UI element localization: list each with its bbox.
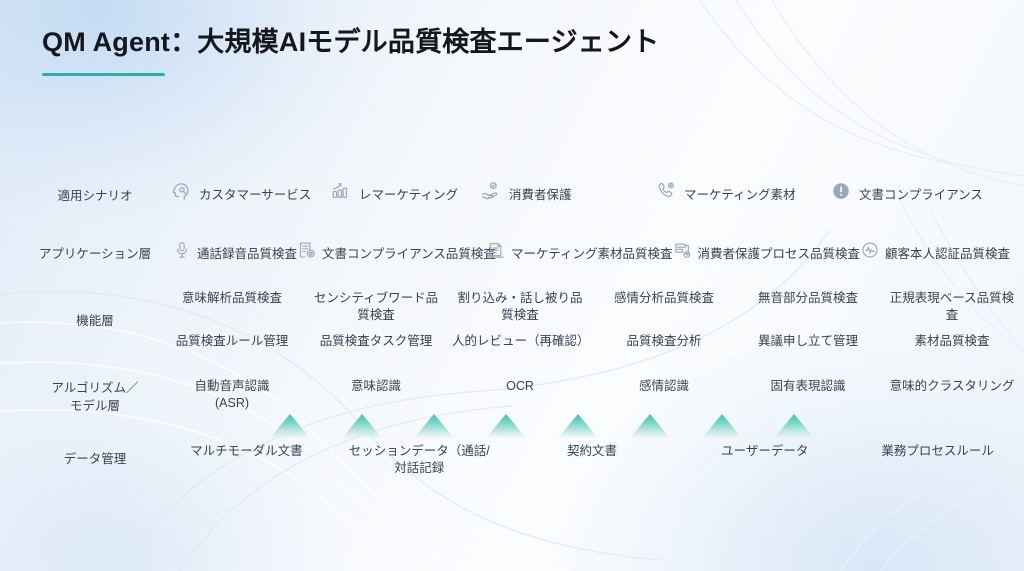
application-item-document-compliance[interactable]: 文書コンプライアンス品質検査 xyxy=(297,240,486,265)
data-cell[interactable]: 業務プロセスルール xyxy=(851,443,1024,477)
scenario-items: カスタマーサービス レマーケティング xyxy=(170,180,1010,207)
algorithm-cell[interactable]: 感情認識 xyxy=(592,378,736,412)
scenario-item-document-compliance[interactable]: 文書コンプライアンス xyxy=(830,180,1010,207)
algorithm-cell[interactable]: 固有表現認識 xyxy=(736,378,880,412)
process-clock-icon xyxy=(673,240,693,265)
background-decoration xyxy=(0,0,1024,571)
application-item-call-recording[interactable]: 通話録音品質検査 xyxy=(172,240,297,265)
algorithm-cell[interactable]: OCR xyxy=(448,378,592,412)
function-cell[interactable]: 人的レビュー（再確認） xyxy=(448,333,592,350)
scenario-item-label: カスタマーサービス xyxy=(199,184,311,203)
swirl-lines xyxy=(0,0,1024,571)
function-cell[interactable]: 品質検査タスク管理 xyxy=(304,333,448,350)
data-cell[interactable]: ユーザーデータ xyxy=(678,443,851,477)
hand-shield-icon xyxy=(480,180,502,207)
algorithm-cell[interactable]: 意味的クラスタリング xyxy=(880,378,1024,412)
title-underline xyxy=(42,73,165,76)
scenario-item-consumer-protection[interactable]: 消費者保護 xyxy=(480,180,655,207)
function-cell[interactable]: 品質検査ルール管理 xyxy=(160,333,304,350)
scenario-row: 適用シナリオ カスタマーサービス xyxy=(0,180,1024,214)
waveform-circle-icon xyxy=(860,240,880,265)
function-cell[interactable]: 割り込み・話し被り品質検査 xyxy=(448,290,592,324)
data-row-label: データ管理 xyxy=(30,450,160,468)
application-item-label: マーケティング素材品質検査 xyxy=(511,243,673,262)
phone-megaphone-icon xyxy=(655,180,677,207)
function-cell[interactable]: 意味解析品質検査 xyxy=(160,290,304,324)
application-item-label: 消費者保護プロセス品質検査 xyxy=(698,243,861,262)
scenario-item-label: 文書コンプライアンス xyxy=(859,184,983,203)
function-cell[interactable]: 異議申し立て管理 xyxy=(736,333,880,350)
exclamation-circle-icon xyxy=(830,180,852,207)
scenario-item-label: レマーケティング xyxy=(359,184,458,203)
algorithm-row-label-line1: アルゴリズム／ xyxy=(51,381,138,395)
application-items: 通話録音品質検査 文書コンプライアンス品質検査 xyxy=(172,240,1024,265)
application-item-label: 文書コンプライアンス品質検査 xyxy=(322,243,496,262)
scenario-item-remarketing[interactable]: レマーケティング xyxy=(330,180,480,207)
algorithm-cell[interactable]: 意味認識 xyxy=(304,378,448,412)
function-cell[interactable]: 無音部分品質検査 xyxy=(736,290,880,324)
data-grid: マルチモーダル文書 セッションデータ（通話/対話記録 契約文書 ユーザーデータ … xyxy=(160,443,1024,477)
application-item-label: 顧客本人認証品質検査 xyxy=(885,243,1010,262)
algorithm-grid: 自動音声認識(ASR) 意味認識 OCR 感情認識 固有表現認識 意味的クラスタ… xyxy=(160,378,1024,412)
function-row-label: 機能層 xyxy=(30,312,160,330)
data-cell[interactable]: 契約文書 xyxy=(506,443,679,477)
application-row: アプリケーション層 通話録音品質検査 xyxy=(0,240,1024,270)
function-cell[interactable]: 品質検査分析 xyxy=(592,333,736,350)
algorithm-row-label-line2: モデル層 xyxy=(70,399,120,413)
scenario-item-label: マーケティング素材 xyxy=(684,184,796,203)
application-item-label: 通話録音品質検査 xyxy=(197,243,297,262)
application-item-identity-verification[interactable]: 顧客本人認証品質検査 xyxy=(860,240,1024,265)
algorithm-row-label: アルゴリズム／ モデル層 xyxy=(30,379,160,415)
algorithm-cell[interactable]: 自動音声認識(ASR) xyxy=(160,378,304,412)
function-cell[interactable]: 感情分析品質検査 xyxy=(592,290,736,324)
scenario-item-label: 消費者保護 xyxy=(509,184,572,203)
function-row: 機能層 意味解析品質検査 センシティブワード品質検査 割り込み・話し被り品質検査… xyxy=(0,290,1024,356)
function-cell[interactable]: 素材品質検査 xyxy=(880,333,1024,350)
application-row-label: アプリケーション層 xyxy=(30,245,160,263)
book-stack-icon xyxy=(486,240,506,265)
function-grid: 意味解析品質検査 センシティブワード品質検査 割り込み・話し被り品質検査 感情分… xyxy=(160,290,1024,350)
microphone-icon xyxy=(172,240,192,265)
slide-canvas: QM Agent：大規模AIモデル品質検査エージェント 適用シナリオ カスタマー… xyxy=(0,0,1024,571)
scenario-item-customer-service[interactable]: カスタマーサービス xyxy=(170,180,330,207)
document-star-icon xyxy=(297,240,317,265)
headset-head-icon xyxy=(170,180,192,207)
application-item-marketing-material[interactable]: マーケティング素材品質検査 xyxy=(486,240,673,265)
data-cell[interactable]: マルチモーダル文書 xyxy=(160,443,333,477)
page-title: QM Agent：大規模AIモデル品質検査エージェント xyxy=(42,20,659,59)
application-item-consumer-protection-process[interactable]: 消費者保護プロセス品質検査 xyxy=(673,240,861,265)
data-row: データ管理 マルチモーダル文書 セッションデータ（通話/対話記録 契約文書 ユー… xyxy=(0,443,1024,483)
scenario-item-marketing-material[interactable]: マーケティング素材 xyxy=(655,180,830,207)
function-cell[interactable]: センシティブワード品質検査 xyxy=(304,290,448,324)
function-cell[interactable]: 正規表現ベース品質検査 xyxy=(880,290,1024,324)
algorithm-row: アルゴリズム／ モデル層 自動音声認識(ASR) 意味認識 OCR 感情認識 固… xyxy=(0,378,1024,420)
data-cell[interactable]: セッションデータ（通話/対話記録 xyxy=(333,443,506,477)
bar-chart-growth-icon xyxy=(330,180,352,207)
scenario-row-label: 適用シナリオ xyxy=(30,187,160,205)
